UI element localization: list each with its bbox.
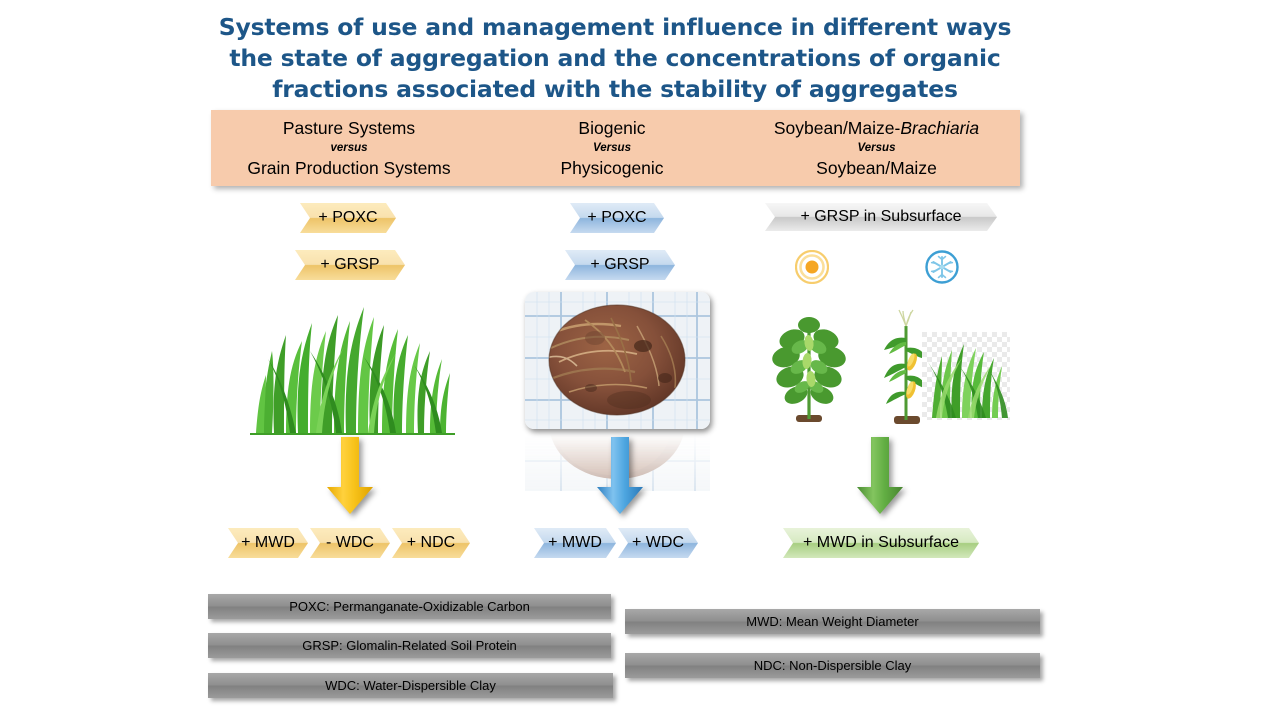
header-top-italic: Brachiaria (900, 118, 979, 138)
brachiaria-icon (922, 332, 1010, 420)
legend-poxc: POXC: Permanganate-Oxidizable Carbon (208, 594, 611, 619)
sun-icon (795, 250, 829, 289)
grass-icon (250, 285, 455, 435)
badge-grsp-subsurface: + GRSP in Subsurface (765, 203, 997, 231)
result-badge-mwd-subsurface: + MWD in Subsurface (783, 528, 979, 558)
soil-aggregate-photo (525, 292, 710, 429)
page-title: Systems of use and management influence … (205, 12, 1025, 105)
badge-poxc-biogenic: + POXC (570, 203, 664, 233)
soybean-plant (770, 303, 848, 430)
result-badge-mwd-pasture: + MWD (228, 528, 308, 558)
down-arrow-gold (325, 437, 375, 520)
brachiaria-grass (922, 332, 1010, 425)
legend-ndc: NDC: Non-Dispersible Clay (625, 653, 1040, 678)
legend-wdc: WDC: Water-Dispersible Clay (208, 673, 613, 698)
header-top-label: Pasture Systems (283, 117, 415, 139)
grass-illustration (250, 285, 455, 435)
header-bottom-label: Grain Production Systems (247, 157, 450, 179)
result-badge-mwd-biogenic: + MWD (534, 528, 616, 558)
header-top-label: Biogenic (578, 117, 645, 139)
result-badge-ndc-pasture: + NDC (392, 528, 470, 558)
legend-grsp: GRSP: Glomalin-Related Soil Protein (208, 633, 611, 658)
header-versus-label: Versus (593, 139, 631, 157)
snowflake-icon (925, 250, 959, 289)
header-top-label: Soybean/Maize-Brachiaria (774, 117, 979, 139)
comparison-header-band: Pasture Systems versus Grain Production … (211, 110, 1020, 186)
result-badge-wdc-pasture: - WDC (310, 528, 390, 558)
header-bottom-label: Soybean/Maize (816, 157, 937, 179)
header-column-biogenic: Biogenic Versus Physicogenic (501, 110, 723, 186)
badge-grsp-biogenic: + GRSP (565, 250, 675, 280)
legend-mwd: MWD: Mean Weight Diameter (625, 609, 1040, 634)
soybean-icon (770, 303, 848, 425)
down-arrow-green (855, 437, 905, 520)
header-top-plain: Soybean/Maize- (774, 118, 900, 138)
result-badge-wdc-biogenic: + WDC (618, 528, 698, 558)
header-versus-label: versus (330, 139, 367, 157)
graphical-abstract: Systems of use and management influence … (0, 0, 1280, 720)
badge-grsp-pasture: + GRSP (295, 250, 405, 280)
header-bottom-label: Physicogenic (560, 157, 663, 179)
header-column-pasture: Pasture Systems versus Grain Production … (217, 110, 481, 186)
header-versus-label: Versus (858, 139, 896, 157)
badge-poxc-pasture: + POXC (300, 203, 396, 233)
down-arrow-blue (595, 437, 645, 520)
header-column-soybean-maize: Soybean/Maize-Brachiaria Versus Soybean/… (739, 110, 1014, 186)
